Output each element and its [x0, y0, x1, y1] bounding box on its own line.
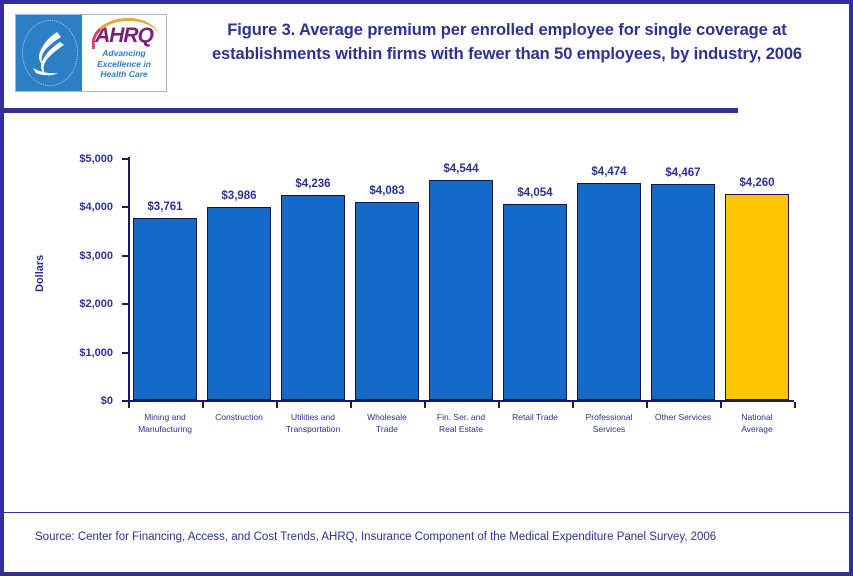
bar-value-label: $3,986	[221, 190, 256, 202]
x-tick	[720, 402, 722, 408]
x-tick	[276, 402, 278, 408]
y-tick-label: $0	[101, 395, 113, 407]
bar-value-label: $4,544	[443, 163, 478, 175]
bar-chart: Dollars $0$1,000$2,000$3,000$4,000$5,000…	[4, 116, 849, 496]
x-tick	[498, 402, 500, 408]
x-category-line: Services	[564, 423, 654, 435]
bar	[651, 184, 714, 400]
tagline-line-1: Advancing	[102, 48, 145, 58]
ahrq-wordmark: AHRQ Advancing Excellence in Health Care	[82, 15, 166, 91]
tagline-line-2: Excellence in	[97, 59, 151, 69]
ahrq-hhs-logo: AHRQ Advancing Excellence in Health Care	[15, 14, 167, 92]
y-axis-line	[128, 157, 130, 401]
x-tick	[128, 402, 130, 408]
plot-area: $0$1,000$2,000$3,000$4,000$5,000 $3,761$…	[128, 157, 794, 401]
y-tick-label: $5,000	[79, 153, 113, 165]
bar	[355, 202, 418, 400]
bar	[207, 207, 270, 400]
y-tick-label: $1,000	[79, 347, 113, 359]
y-axis-title: Dollars	[34, 272, 46, 292]
bar-value-label: $4,467	[665, 167, 700, 179]
x-tick	[646, 402, 648, 408]
title-divider	[4, 108, 738, 113]
source-note: Source: Center for Financing, Access, an…	[35, 531, 716, 543]
x-category-line: Manufacturing	[120, 423, 210, 435]
x-axis-line	[128, 400, 794, 402]
figure-header: AHRQ Advancing Excellence in Health Care…	[4, 4, 849, 104]
y-tick: $3,000	[122, 255, 128, 257]
y-tick-label: $2,000	[79, 298, 113, 310]
bar	[281, 195, 344, 400]
hhs-seal-icon	[16, 15, 82, 91]
y-tick: $1,000	[122, 352, 128, 354]
footer-divider	[4, 512, 849, 513]
bar	[503, 204, 566, 400]
x-category-line: Real Estate	[416, 423, 506, 435]
x-category-line: National	[712, 411, 802, 423]
ahrq-arc-icon	[90, 16, 161, 50]
x-tick	[794, 402, 796, 408]
tagline-line-3: Health Care	[100, 69, 147, 79]
bar	[577, 183, 640, 400]
x-tick	[424, 402, 426, 408]
y-tick: $5,000	[122, 158, 128, 160]
x-tick	[350, 402, 352, 408]
bar	[133, 218, 196, 400]
bar-value-label: $4,236	[295, 178, 330, 190]
bar-value-label: $4,054	[517, 187, 552, 199]
bar	[725, 194, 788, 400]
bar-value-label: $3,761	[147, 201, 182, 213]
x-category-line: Average	[712, 423, 802, 435]
x-category-label: NationalAverage	[712, 411, 802, 435]
bar-value-label: $4,474	[591, 166, 626, 178]
y-tick-label: $4,000	[79, 201, 113, 213]
figure-page: AHRQ Advancing Excellence in Health Care…	[0, 0, 853, 576]
bar-value-label: $4,260	[739, 177, 774, 189]
y-tick-label: $3,000	[79, 250, 113, 262]
y-tick: $4,000	[122, 206, 128, 208]
figure-title: Figure 3. Average premium per enrolled e…	[182, 18, 832, 66]
hhs-bird-icon	[27, 28, 71, 78]
x-tick	[572, 402, 574, 408]
x-tick	[202, 402, 204, 408]
bar	[429, 180, 492, 400]
y-tick: $2,000	[122, 303, 128, 305]
ahrq-tagline: Advancing Excellence in Health Care	[97, 48, 151, 80]
bar-value-label: $4,083	[369, 185, 404, 197]
